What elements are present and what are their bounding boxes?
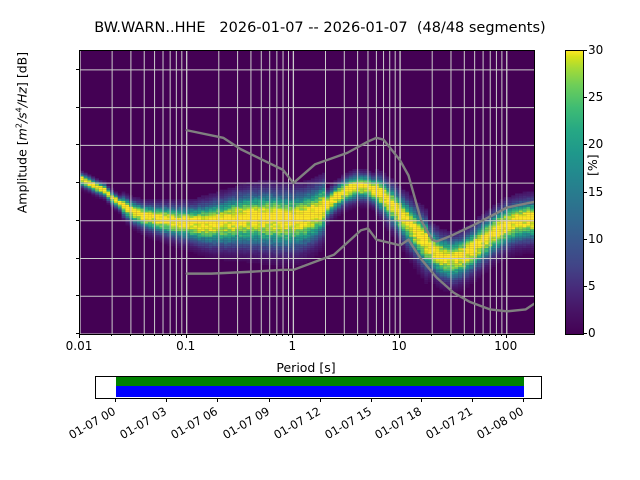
density-cell [405,250,409,252]
density-cell [485,246,489,248]
density-cell [477,218,481,220]
density-cell [235,203,239,205]
density-cell [405,254,409,256]
density-cell [171,243,175,245]
density-cell [390,212,394,214]
density-cell [296,193,300,195]
density-cell [246,207,250,209]
density-cell [133,199,137,201]
density-cell [526,199,530,201]
density-cell [515,252,519,254]
density-cell [402,212,406,214]
density-cell [402,248,406,250]
density-cell [508,199,512,201]
density-cell [212,244,216,246]
density-cell [148,199,152,201]
colorbar-tick-label: 20 [588,137,618,151]
density-cell [205,207,209,209]
density-cell [394,201,398,203]
density-cell [224,224,228,226]
density-cell [163,227,167,229]
density-cell [455,241,459,243]
density-cell [209,201,213,203]
density-cell [284,226,288,228]
density-cell [473,256,477,258]
density-cell [470,263,474,265]
density-cell [209,243,213,245]
density-cell [296,224,300,226]
density-cell [421,229,425,231]
density-cell [137,197,141,199]
density-cell [511,229,515,231]
density-cell [220,233,224,235]
density-cell [125,203,129,205]
density-cell [91,180,95,182]
density-cell [281,186,285,188]
density-cell [303,210,307,212]
density-cell [281,216,285,218]
density-cell [455,273,459,275]
density-cell [273,263,277,265]
density-cell [405,226,409,228]
density-cell [212,241,216,243]
density-cell [84,180,88,182]
density-cell [439,231,443,233]
density-cell [508,203,512,205]
density-cell [273,243,277,245]
density-cell [447,271,451,273]
density-cell [379,210,383,212]
density-cell [473,237,477,239]
density-cell [194,237,198,239]
density-cell [239,184,243,186]
density-cell [485,241,489,243]
density-cell [296,226,300,228]
density-cell [443,254,447,256]
density-cell [299,256,303,258]
density-cell [413,267,417,269]
density-cell [144,205,148,207]
density-cell [371,201,375,203]
density-cell [458,239,462,241]
density-cell [152,216,156,218]
density-cell [197,248,201,250]
density-cell [243,207,247,209]
colorbar-tick-mark [583,239,587,240]
density-cell [190,199,194,201]
density-cell [243,259,247,261]
density-cell [526,229,530,231]
density-cell [477,252,481,254]
density-cell [428,222,432,224]
density-cell [273,201,277,203]
density-cell [352,184,356,186]
density-cell [443,267,447,269]
density-cell [205,226,209,228]
y-tick-mark [76,182,80,183]
density-cell [526,241,530,243]
density-cell [125,199,129,201]
density-cell [122,216,126,218]
density-cell [375,203,379,205]
density-cell [228,227,232,229]
density-cell [492,209,496,211]
density-cell [284,241,288,243]
density-cell [303,214,307,216]
density-cell [458,267,462,269]
density-cell [345,197,349,199]
density-cell [197,218,201,220]
x-tick-mark [169,334,170,336]
density-cell [265,237,269,239]
density-cell [311,231,315,233]
density-cell [466,276,470,278]
density-cell [458,252,462,254]
density-cell [360,175,364,177]
density-cell [352,173,356,175]
density-cell [318,186,322,188]
density-cell [220,210,224,212]
density-cell [515,210,519,212]
density-cell [262,222,266,224]
density-cell [443,231,447,233]
density-cell [144,214,148,216]
density-cell [337,205,341,207]
density-cell [330,203,334,205]
density-cell [156,212,160,214]
density-cell [171,241,175,243]
density-cell [235,190,239,192]
density-cell [152,199,156,201]
density-cell [345,173,349,175]
density-cell [379,175,383,177]
density-cell [265,210,269,212]
density-cell [477,216,481,218]
density-cell [360,205,364,207]
density-cell [254,201,258,203]
density-cell [326,190,330,192]
density-cell [519,233,523,235]
data-coverage-green[interactable] [116,377,524,386]
density-cell [473,227,477,229]
density-cell [205,209,209,211]
density-cell [182,214,186,216]
density-cell [239,222,243,224]
density-cell [163,243,167,245]
density-cell [409,248,413,250]
density-cell [303,241,307,243]
density-cell [303,186,307,188]
density-cell [205,224,209,226]
density-cell [326,199,330,201]
ppsd-plot-area[interactable] [79,50,535,335]
density-cell [246,193,250,195]
density-cell [352,171,356,173]
density-cell [485,226,489,228]
density-cell [224,195,228,197]
density-cell [466,259,470,261]
density-cell [224,244,228,246]
density-cell [299,259,303,261]
density-cell [390,229,394,231]
density-cell [436,273,440,275]
density-cell [409,209,413,211]
y-tick-mark [76,144,80,145]
density-cell [84,186,88,188]
density-cell [337,203,341,205]
density-cell [156,239,160,241]
density-cell [197,201,201,203]
x-tick-mark [389,334,390,336]
density-cell [311,244,315,246]
density-cell [307,226,311,228]
density-cell [303,254,307,256]
density-cell [190,229,194,231]
colorbar-tick-label: 5 [588,279,618,293]
density-cell [239,246,243,248]
density-cell [526,209,530,211]
density-cell [439,275,443,277]
density-cell [239,192,243,194]
density-cell [239,218,243,220]
x-tick-mark [394,334,395,336]
density-cell [194,233,198,235]
density-cell [307,203,311,205]
density-cell [281,190,285,192]
density-cell [133,203,137,205]
density-cell [443,278,447,280]
density-cell [265,201,269,203]
density-cell [125,216,129,218]
density-cell [530,229,534,231]
density-cell [345,180,349,182]
density-cell [246,261,250,263]
density-cell [224,209,228,211]
timeline-plot-area[interactable] [95,376,542,399]
density-cell [194,243,198,245]
density-cell [231,227,235,229]
density-cell [417,259,421,261]
density-cell [443,241,447,243]
density-cell [315,235,319,237]
density-cell [148,212,152,214]
density-cell [205,235,209,237]
density-cell [428,263,432,265]
density-cell [133,197,137,199]
density-cell [311,203,315,205]
density-cell [235,199,239,201]
density-cell [197,205,201,207]
density-cell [265,195,269,197]
density-cell [371,175,375,177]
density-cell [228,218,232,220]
density-cell [390,193,394,195]
density-cell [231,248,235,250]
x-tick-mark [399,334,400,338]
density-cell [473,241,477,243]
density-cell [315,248,319,250]
density-cell [190,212,194,214]
density-cell [137,209,141,211]
density-cell [216,212,220,214]
density-cell [254,218,258,220]
density-cell [216,192,220,194]
density-cell [375,178,379,180]
density-cell [171,201,175,203]
density-cell [281,218,285,220]
density-cell [205,243,209,245]
density-cell [511,201,515,203]
density-cell [228,235,232,237]
density-cell [413,235,417,237]
density-cell [231,205,235,207]
density-cell [447,254,451,256]
density-cell [379,205,383,207]
density-cell [281,243,285,245]
density-cell [333,207,337,209]
density-cell [235,197,239,199]
density-cell [417,235,421,237]
density-cell [296,250,300,252]
density-cell [148,237,152,239]
density-cell [212,214,216,216]
density-cell [352,176,356,178]
density-cell [201,231,205,233]
density-cell [473,276,477,278]
density-cell [243,205,247,207]
density-cell [220,227,224,229]
density-cell [220,226,224,228]
density-cell [519,252,523,254]
density-cell [515,212,519,214]
density-cell [345,199,349,201]
density-cell [530,226,534,228]
density-cell [318,248,322,250]
density-cell [228,193,232,195]
density-cell [239,252,243,254]
density-cell [515,248,519,250]
density-cell [194,205,198,207]
density-cell [485,269,489,271]
density-cell [530,209,534,211]
density-cell [209,254,213,256]
density-cell [299,190,303,192]
density-cell [281,227,285,229]
density-cell [523,212,527,214]
density-cell [284,212,288,214]
density-cell [299,207,303,209]
density-cell [254,212,258,214]
density-cell [417,239,421,241]
density-cell [315,193,319,195]
density-cell [394,190,398,192]
density-cell [485,210,489,212]
density-cell [515,216,519,218]
density-cell [458,261,462,263]
density-cell [330,195,334,197]
density-cell [231,229,235,231]
density-cell [209,209,213,211]
density-cell [307,216,311,218]
density-cell [235,246,239,248]
density-cell [315,180,319,182]
density-cell [296,201,300,203]
density-cell [318,243,322,245]
density-cell [315,250,319,252]
density-cell [246,252,250,254]
density-cell [254,256,258,258]
density-cell [201,244,205,246]
density-cell [273,241,277,243]
density-cell [375,201,379,203]
density-cell [296,248,300,250]
density-cell [523,239,527,241]
density-cell [152,203,156,205]
x-tick-mark [357,334,358,336]
density-cell [239,188,243,190]
density-cell [405,205,409,207]
density-cell [299,203,303,205]
density-cell [144,233,148,235]
density-cell [447,244,451,246]
density-cell [436,248,440,250]
density-cell [156,229,160,231]
density-cell [296,210,300,212]
density-cell [228,244,232,246]
density-cell [375,175,379,177]
density-cell [296,192,300,194]
density-cell [88,175,92,177]
density-cell [523,227,527,229]
density-cell [436,271,440,273]
colorbar[interactable] [565,50,584,335]
density-cell [114,203,118,205]
density-cell [315,209,319,211]
density-cell [228,250,232,252]
density-cell [265,184,269,186]
density-cell [144,229,148,231]
density-cell [409,212,413,214]
density-cell [345,195,349,197]
density-cell [216,241,220,243]
density-cell [466,275,470,277]
density-cell [273,239,277,241]
data-coverage-blue[interactable] [116,386,524,397]
density-cell [447,256,451,258]
density-cell [273,209,277,211]
density-cell [212,222,216,224]
density-cell [303,207,307,209]
density-cell [243,241,247,243]
density-cell [439,244,443,246]
density-cell [299,252,303,254]
density-cell [311,199,315,201]
density-cell [311,210,315,212]
density-cell [273,207,277,209]
density-cell [492,210,496,212]
density-cell [364,192,368,194]
density-cell [519,244,523,246]
density-cell [220,209,224,211]
density-cell [318,184,322,186]
density-cell [485,224,489,226]
density-cell [311,216,315,218]
density-cell [231,192,235,194]
density-cell [273,188,277,190]
density-cell [299,239,303,241]
density-cell [220,205,224,207]
density-cell [262,203,266,205]
